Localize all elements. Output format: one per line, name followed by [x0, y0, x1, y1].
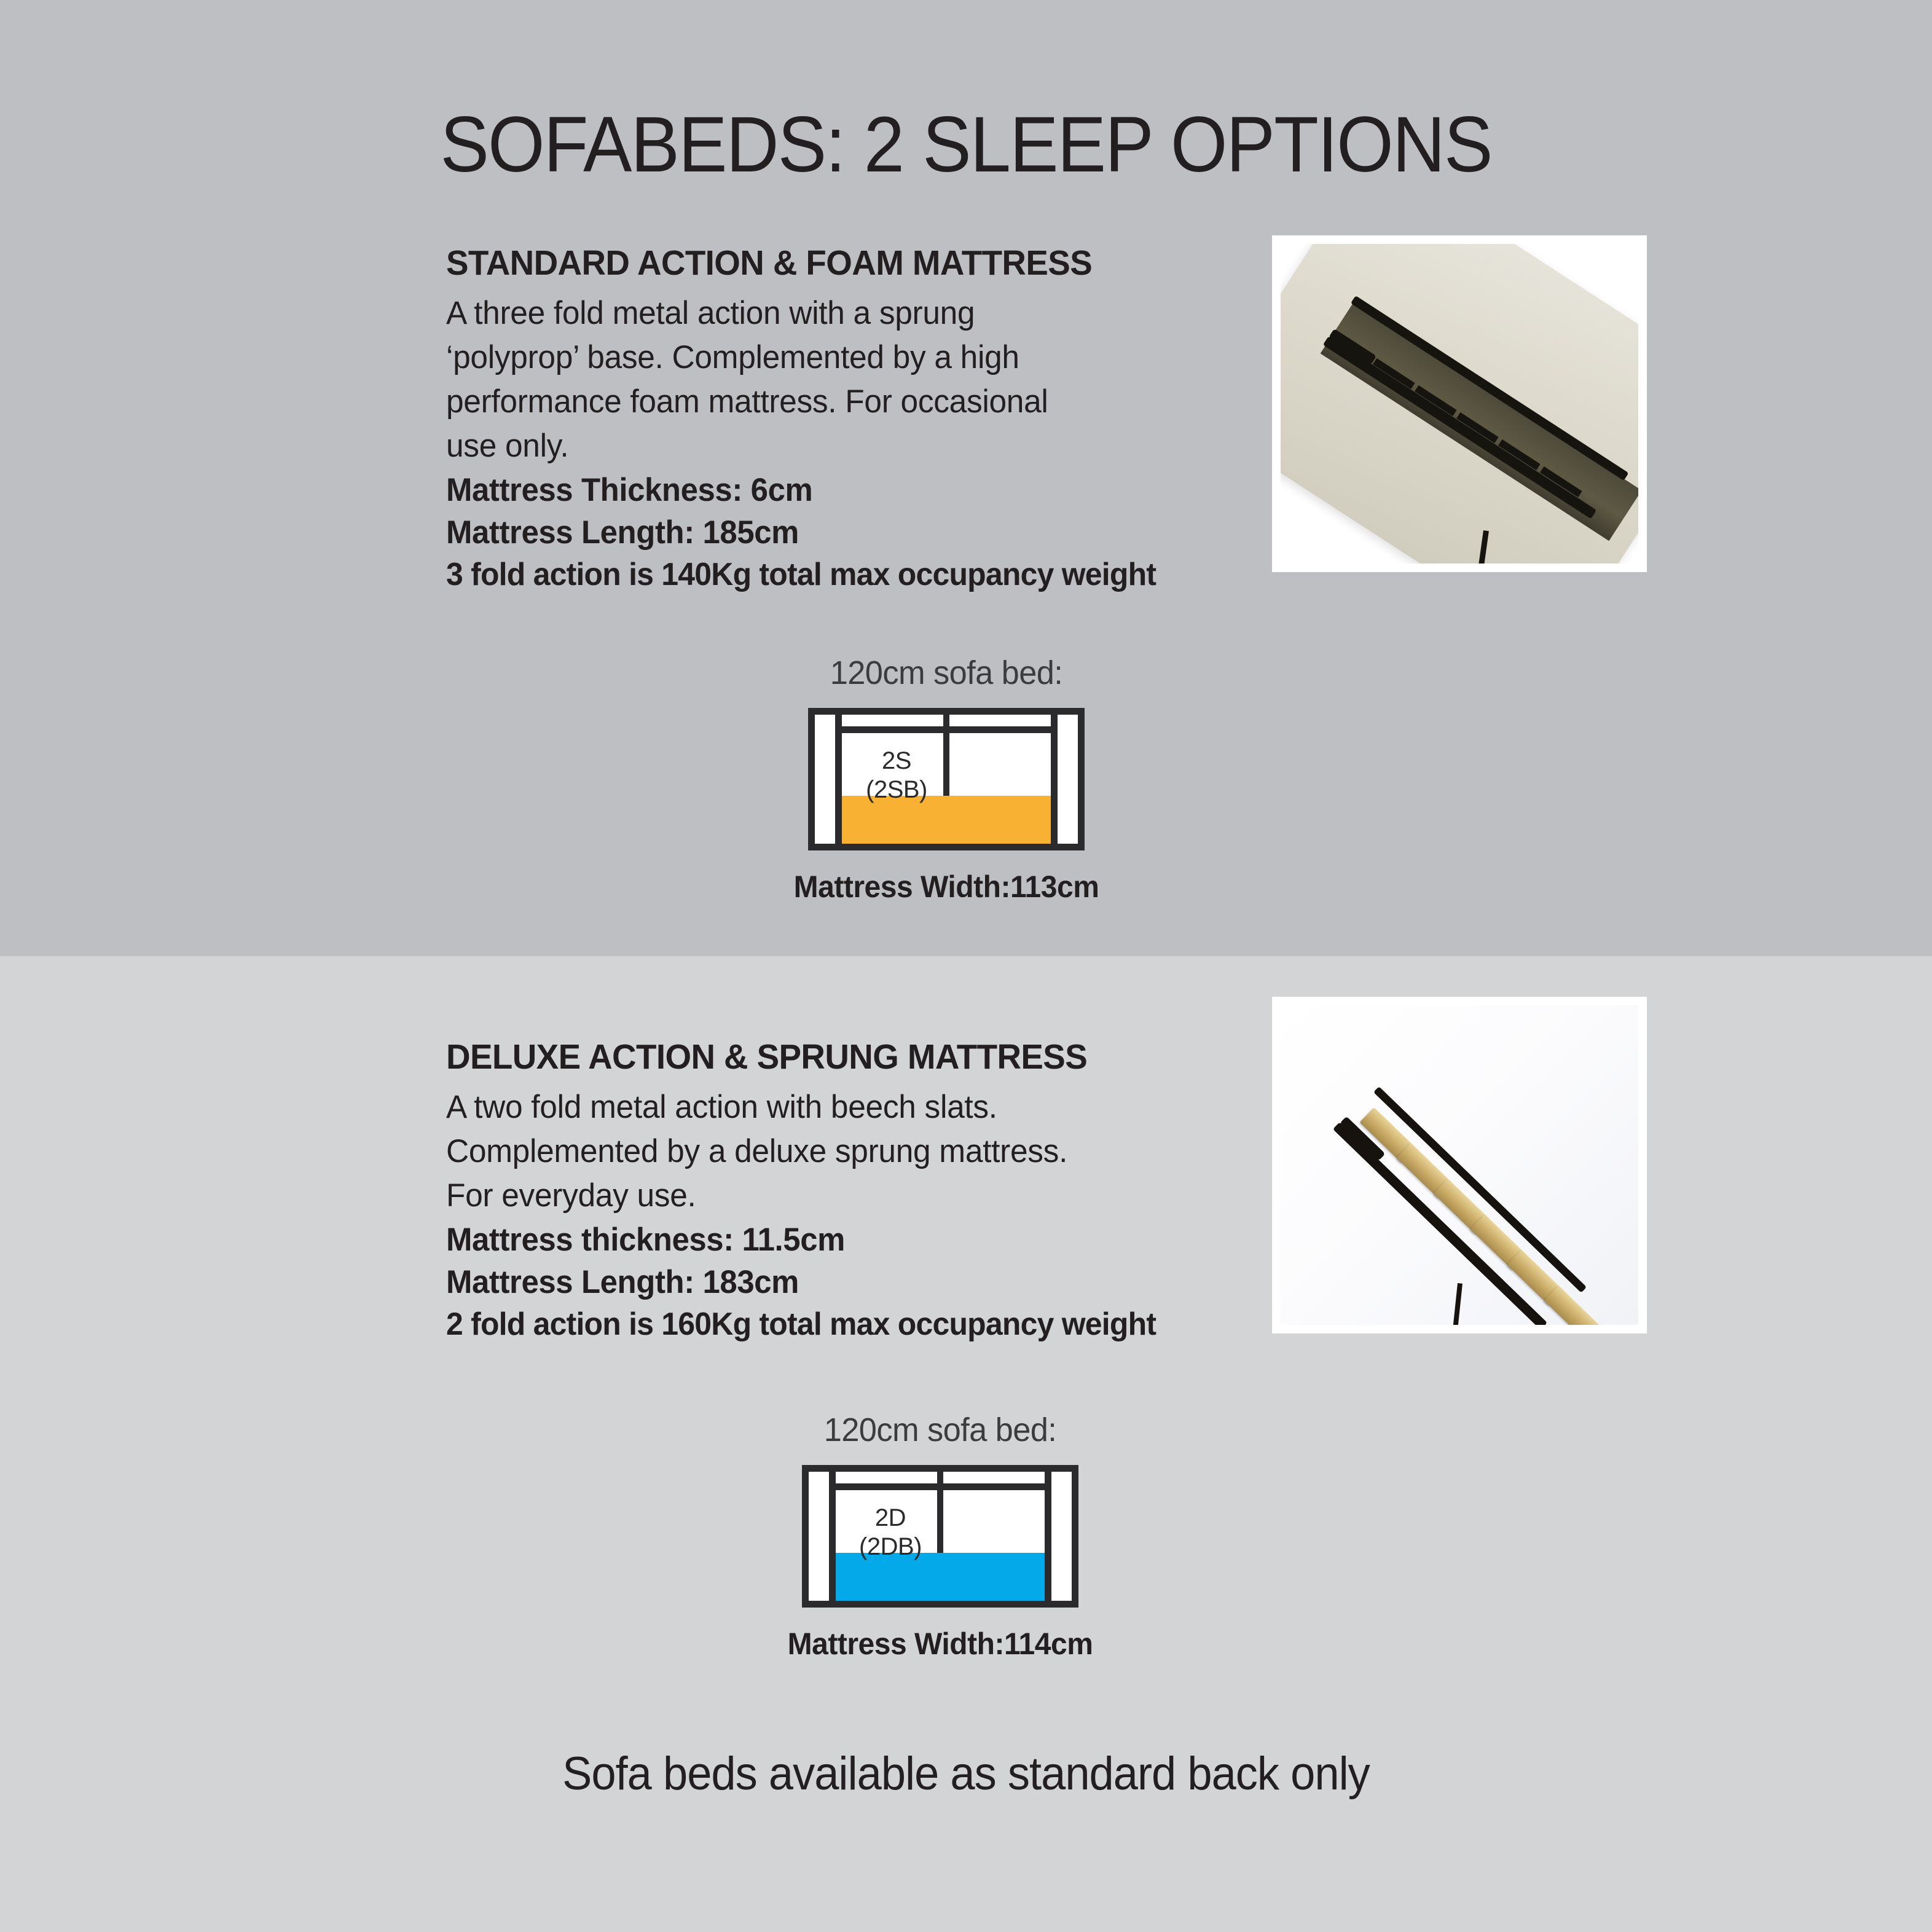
sofa-seat-divider [943, 715, 949, 808]
seat-code-alt: (2DB) [844, 1533, 937, 1561]
photo-deluxe-action-image [1281, 1005, 1638, 1325]
sofa-plan-deluxe: 2D (2DB) [802, 1465, 1078, 1608]
mattress-width-label-standard: Mattress Width:113cm [681, 869, 1212, 905]
seat-code: 2D [844, 1504, 937, 1533]
photo-standard-action-image [1281, 244, 1638, 563]
photo-standard-action [1272, 235, 1647, 572]
spec-max-occupancy: 3 fold action is 140Kg total max occupan… [446, 554, 1272, 596]
spec-mattress-thickness: Mattress Thickness: 6cm [446, 469, 1272, 512]
sofa-arm-right [1045, 1472, 1051, 1601]
section-standard-body: A three fold metal action with a sprung … [446, 291, 1281, 468]
section-deluxe-copy: DELUXE ACTION & SPRUNG MATTRESS A two fo… [446, 1039, 1306, 1345]
body-line: performance foam mattress. For occasiona… [446, 380, 1281, 424]
sofa-seat-divider [937, 1472, 943, 1565]
body-line: A two fold metal action with beech slats… [446, 1085, 1281, 1129]
spec-mattress-thickness: Mattress thickness: 11.5cm [446, 1219, 1272, 1262]
body-line: For everyday use. [446, 1174, 1281, 1218]
poster-stage: SOFABEDS: 2 SLEEP OPTIONS STANDARD ACTIO… [0, 0, 1932, 1932]
section-standard-title: STANDARD ACTION & FOAM MATTRESS [446, 245, 1272, 283]
body-line: Complemented by a deluxe sprung mattress… [446, 1129, 1281, 1174]
section-deluxe-body: A two fold metal action with beech slats… [446, 1085, 1281, 1218]
diagram-standard: 120cm sofa bed: 2S (2SB) Mattress Width:… [670, 656, 1223, 905]
mattress-width-label-deluxe: Mattress Width:114cm [675, 1626, 1206, 1662]
diagram-caption-standard: 120cm sofa bed: [678, 656, 1215, 689]
sofa-seat-code-standard: 2S (2SB) [850, 747, 943, 804]
body-line: ‘polyprop’ base. Complemented by a high [446, 336, 1281, 380]
diagram-deluxe: 120cm sofa bed: 2D (2DB) Mattress Width:… [664, 1413, 1217, 1662]
seat-code-alt: (2SB) [850, 776, 943, 804]
spec-mattress-length: Mattress Length: 185cm [446, 512, 1272, 554]
page-title: SOFABEDS: 2 SLEEP OPTIONS [68, 106, 1864, 184]
sofa-arm-left [835, 715, 842, 844]
spec-max-occupancy: 2 fold action is 160Kg total max occupan… [446, 1304, 1272, 1346]
photo-deluxe-action [1272, 997, 1647, 1333]
sofa-arm-right [1051, 715, 1058, 844]
footer-tagline: Sofa beds available as standard back onl… [49, 1747, 1884, 1800]
sofa-arm-left [829, 1472, 836, 1601]
sofa-seat-code-deluxe: 2D (2DB) [844, 1504, 937, 1561]
diagram-caption-deluxe: 120cm sofa bed: [672, 1413, 1209, 1447]
spec-mattress-length: Mattress Length: 183cm [446, 1262, 1272, 1304]
sofa-plan-standard: 2S (2SB) [808, 708, 1085, 850]
body-line: A three fold metal action with a sprung [446, 291, 1281, 336]
body-line: use only. [446, 424, 1281, 468]
seat-code: 2S [850, 747, 943, 776]
section-standard-copy: STANDARD ACTION & FOAM MATTRESS A three … [446, 245, 1306, 595]
section-deluxe-title: DELUXE ACTION & SPRUNG MATTRESS [446, 1039, 1272, 1077]
